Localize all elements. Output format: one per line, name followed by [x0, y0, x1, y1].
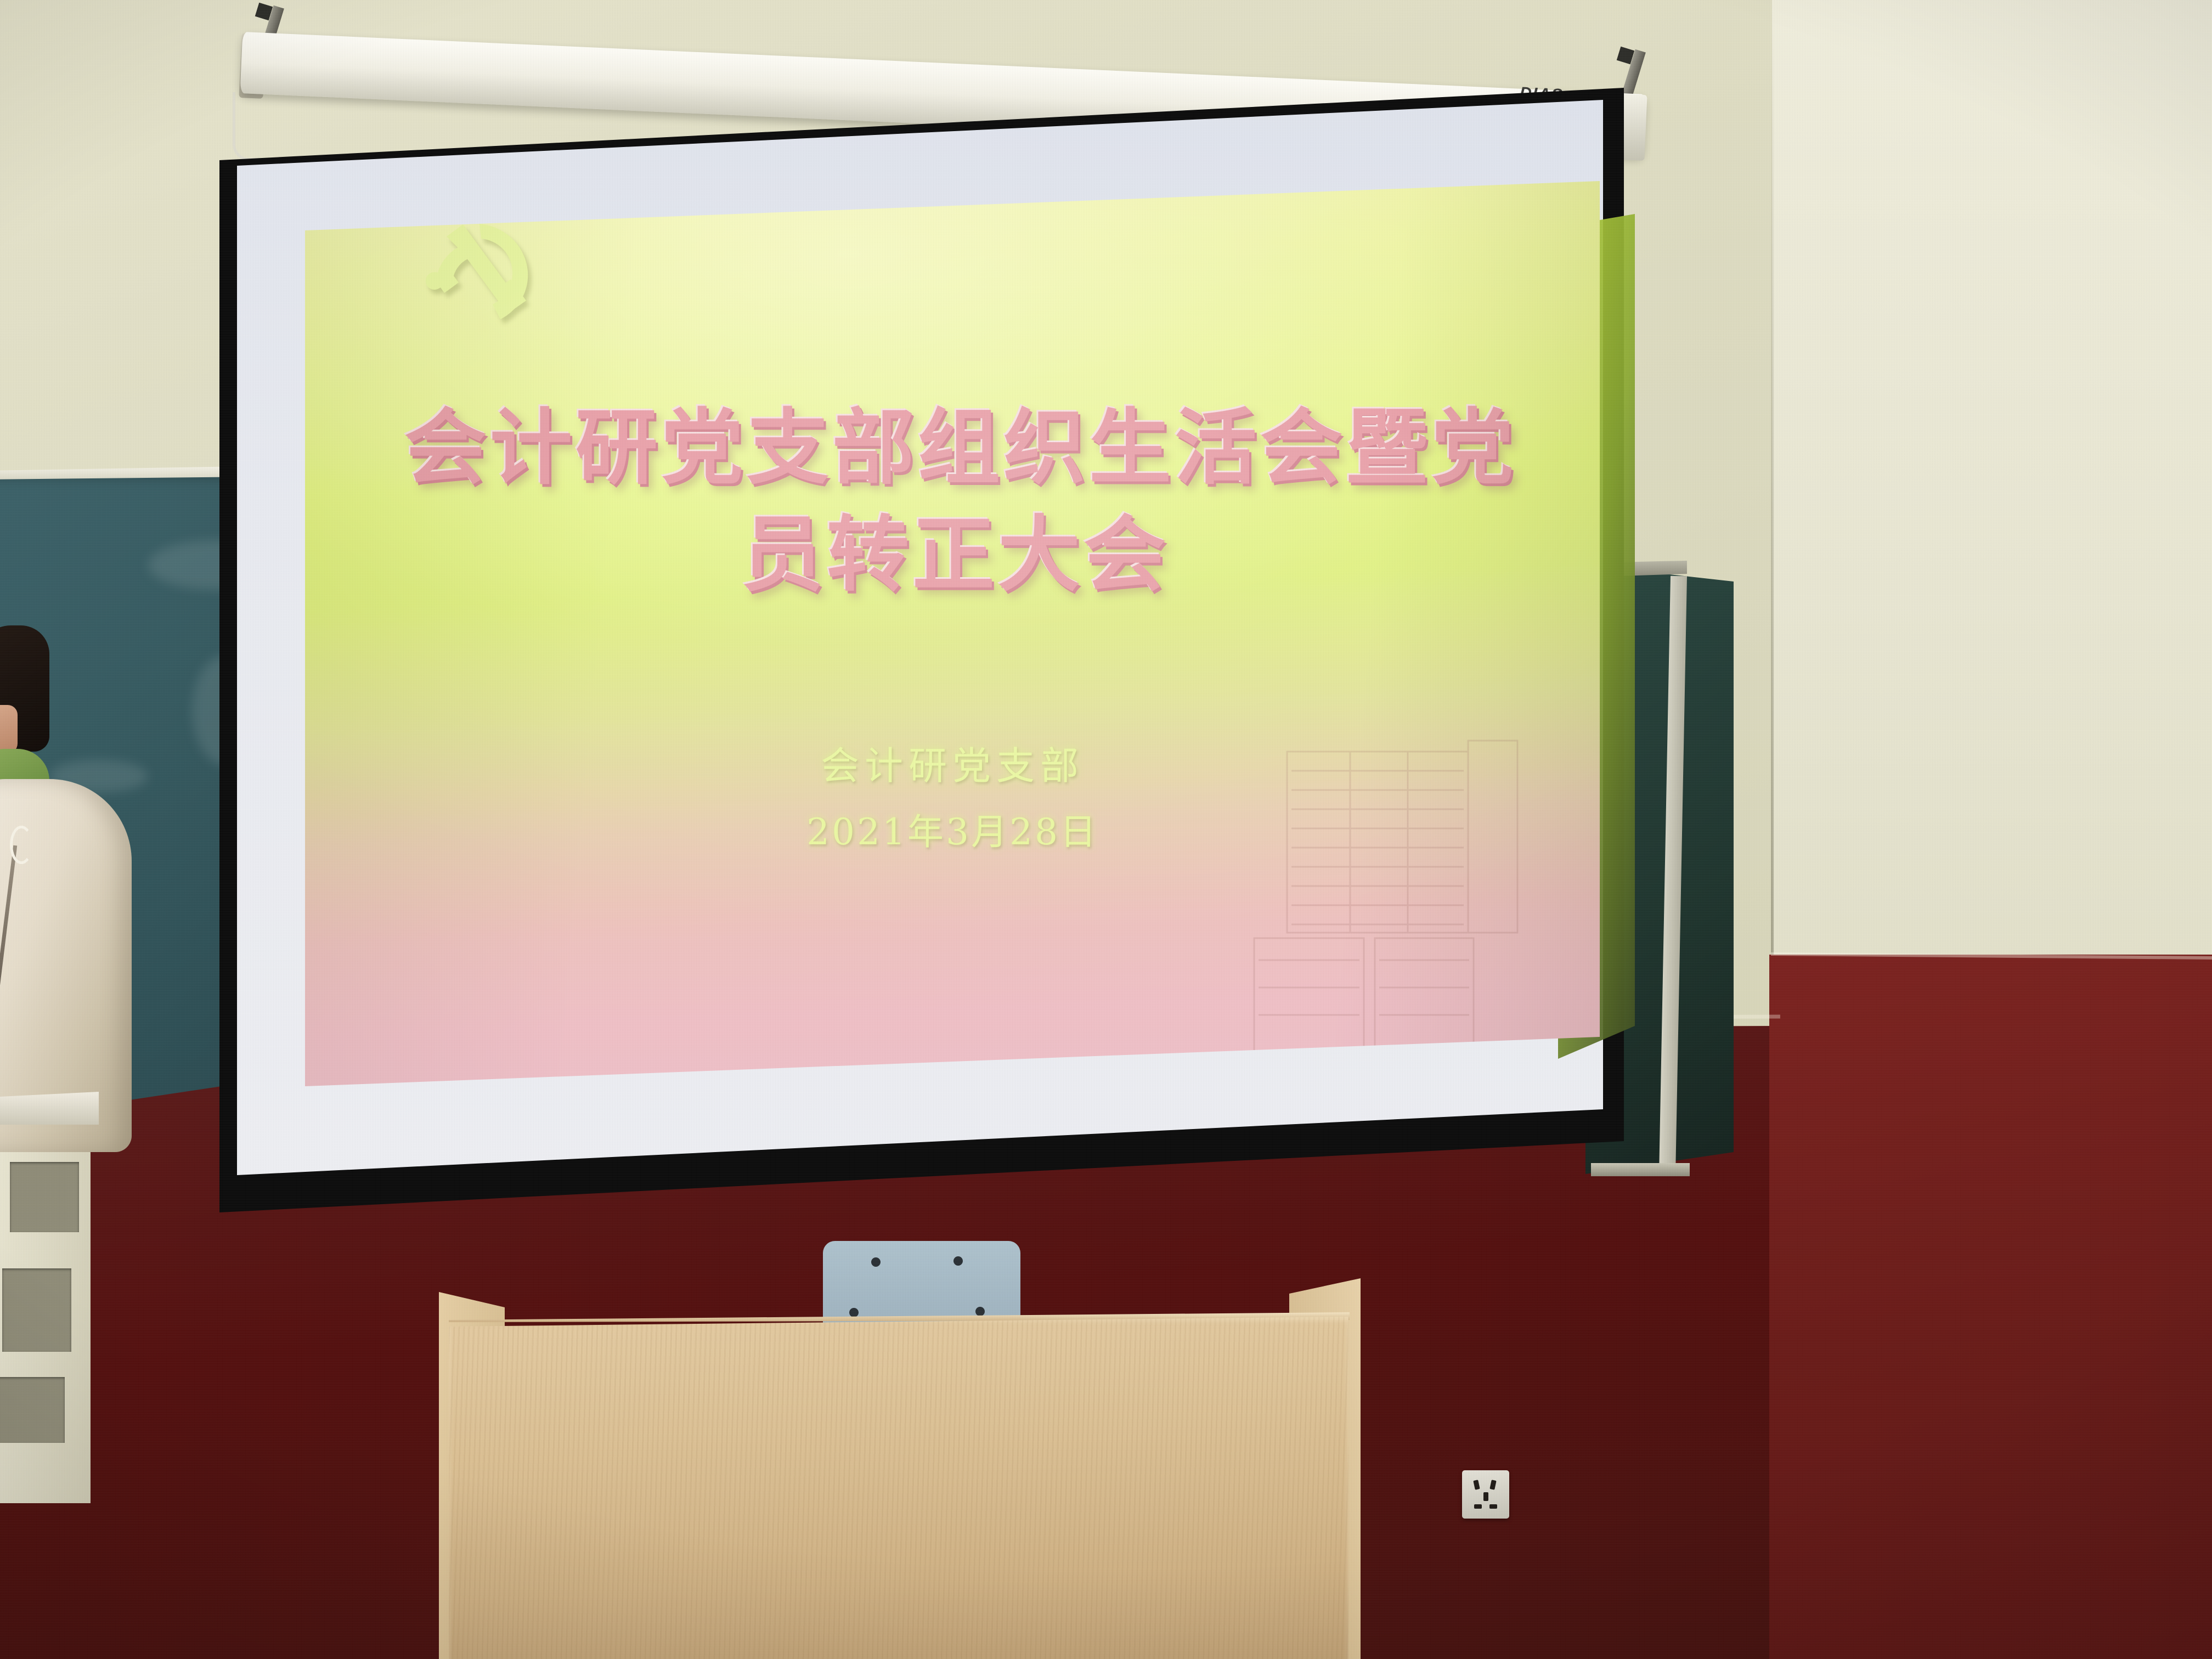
wooden-lectern: [449, 1317, 1348, 1659]
person-face: [0, 705, 18, 754]
wall-control-cabinet[interactable]: [0, 1119, 91, 1503]
ccp-hammer-sickle-emblem: [415, 214, 546, 329]
slide-title-block: 会计研党支部组织生活会暨党 员转正大会: [305, 395, 1600, 609]
grey-wall-mount-plate: [823, 1241, 1020, 1323]
power-cable-icon: [233, 92, 261, 161]
slide-date: 2021年3月28日: [305, 803, 1600, 855]
photo-scene: DIAS: [0, 0, 2212, 1659]
slide-background: 会计研党支部组织生活会暨党 员转正大会 会计研党支部 2021年3月28日: [305, 181, 1600, 1086]
wall-wainscot-right: [1769, 955, 2212, 1659]
projected-slide: 会计研党支部组织生活会暨党 员转正大会 会计研党支部 2021年3月28日: [305, 181, 1600, 1086]
wall-upper-right: [1772, 0, 2212, 982]
plate-screw: [953, 1256, 963, 1266]
plate-screw: [871, 1257, 881, 1267]
cabinet-slot: [2, 1268, 71, 1352]
cabinet-slot: [0, 1377, 65, 1443]
slide-subtitle-block: 会计研党支部 2021年3月28日: [305, 735, 1600, 855]
chalkboard-right-tray: [1591, 1163, 1690, 1176]
hoodie-drawstring: [10, 826, 33, 864]
desk-edge-left: [0, 1092, 99, 1125]
slide-title-line-2: 员转正大会: [311, 502, 1600, 609]
plate-screw: [849, 1308, 859, 1317]
cabinet-slot: [10, 1162, 79, 1232]
slide-organization: 会计研党支部: [305, 735, 1600, 791]
slide-title-line-1: 会计研党支部组织生活会暨党: [321, 395, 1600, 502]
plate-screw: [975, 1307, 985, 1316]
wall-power-outlet[interactable]: [1462, 1470, 1509, 1519]
wall-corner-line: [1771, 0, 1774, 988]
